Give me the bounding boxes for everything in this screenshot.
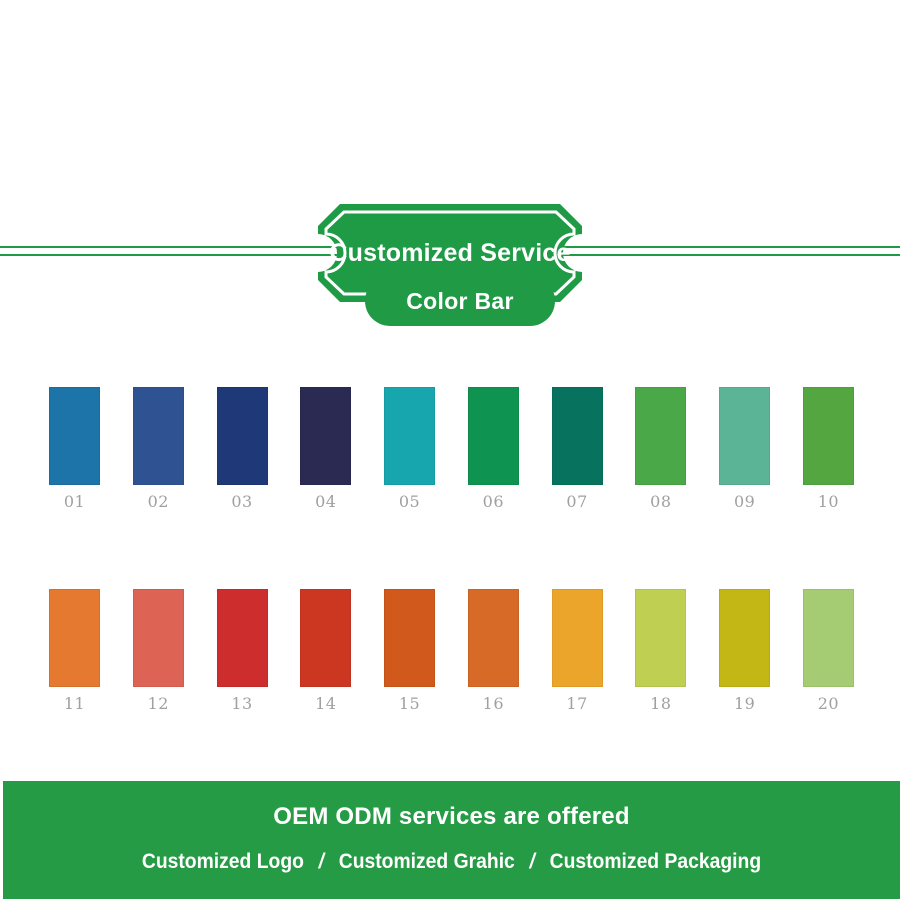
color-swatch-chip[interactable] — [300, 387, 351, 485]
color-swatch-label: 08 — [650, 494, 671, 510]
color-swatch-09[interactable]: 09 — [719, 387, 770, 510]
color-swatch-label: 06 — [483, 494, 504, 510]
color-swatch-chip[interactable] — [217, 589, 268, 687]
color-swatch-label: 10 — [818, 494, 839, 510]
color-swatch-label: 03 — [231, 494, 252, 510]
color-swatch-11[interactable]: 11 — [49, 589, 100, 712]
color-swatch-label: 14 — [315, 696, 336, 712]
color-swatch-label: 18 — [650, 696, 671, 712]
color-swatch-label: 01 — [64, 494, 85, 510]
color-swatch-15[interactable]: 15 — [384, 589, 435, 712]
header-banner: Customized Service — [0, 103, 900, 199]
color-swatch-chip[interactable] — [300, 589, 351, 687]
color-swatch-chip[interactable] — [49, 589, 100, 687]
color-swatch-label: 02 — [148, 494, 169, 510]
color-swatch-chip[interactable] — [49, 387, 100, 485]
color-swatch-12[interactable]: 12 — [133, 589, 184, 712]
color-swatch-01[interactable]: 01 — [49, 387, 100, 510]
color-swatch-16[interactable]: 16 — [468, 589, 519, 712]
footer-service-packaging: Customized Packaging — [550, 851, 761, 872]
color-swatch-chip[interactable] — [217, 387, 268, 485]
footer-banner: OEM ODM services are offered Customized … — [3, 781, 900, 899]
color-swatch-chip[interactable] — [719, 387, 770, 485]
page-title-text: Customized Service — [329, 239, 570, 268]
color-swatch-chip[interactable] — [635, 387, 686, 485]
color-swatch-row-1: 01020304050607080910 — [49, 387, 854, 510]
color-swatch-chip[interactable] — [384, 589, 435, 687]
color-bar-pill-label: Color Bar — [406, 288, 514, 315]
color-swatch-label: 12 — [148, 696, 169, 712]
footer-service-graphic: Customized Grahic — [339, 851, 515, 872]
color-swatch-20[interactable]: 20 — [803, 589, 854, 712]
color-swatch-08[interactable]: 08 — [635, 387, 686, 510]
color-swatch-chip[interactable] — [133, 589, 184, 687]
color-swatch-05[interactable]: 05 — [384, 387, 435, 510]
color-swatch-chip[interactable] — [133, 387, 184, 485]
color-swatch-label: 04 — [315, 494, 336, 510]
color-swatch-04[interactable]: 04 — [300, 387, 351, 510]
color-swatch-row-2: 11121314151617181920 — [49, 589, 854, 712]
color-swatch-label: 15 — [399, 696, 420, 712]
color-swatch-chip[interactable] — [635, 589, 686, 687]
footer-separator-2: / — [515, 851, 550, 872]
color-swatch-label: 09 — [734, 494, 755, 510]
color-swatch-02[interactable]: 02 — [133, 387, 184, 510]
color-swatch-17[interactable]: 17 — [552, 589, 603, 712]
color-swatch-chip[interactable] — [803, 589, 854, 687]
footer-services: Customized Logo / Customized Grahic / Cu… — [39, 851, 864, 872]
footer-headline: OEM ODM services are offered — [3, 805, 900, 829]
color-swatch-label: 16 — [483, 696, 504, 712]
color-bar-pill: Color Bar — [365, 276, 555, 326]
color-swatch-chip[interactable] — [384, 387, 435, 485]
color-swatch-label: 07 — [566, 494, 587, 510]
color-swatch-10[interactable]: 10 — [803, 387, 854, 510]
color-swatch-label: 17 — [566, 696, 587, 712]
color-swatch-label: 20 — [818, 696, 839, 712]
color-swatch-07[interactable]: 07 — [552, 387, 603, 510]
footer-separator-1: / — [304, 851, 339, 872]
color-swatch-chip[interactable] — [719, 589, 770, 687]
color-swatch-14[interactable]: 14 — [300, 589, 351, 712]
color-swatch-chip[interactable] — [803, 387, 854, 485]
footer-service-logo: Customized Logo — [142, 851, 304, 872]
color-swatch-chip[interactable] — [468, 387, 519, 485]
color-swatch-chip[interactable] — [552, 589, 603, 687]
color-swatch-13[interactable]: 13 — [217, 589, 268, 712]
color-swatch-label: 11 — [64, 696, 85, 712]
color-swatch-label: 05 — [399, 494, 420, 510]
color-swatch-03[interactable]: 03 — [217, 387, 268, 510]
color-swatch-06[interactable]: 06 — [468, 387, 519, 510]
color-swatch-18[interactable]: 18 — [635, 589, 686, 712]
color-swatch-label: 13 — [231, 696, 252, 712]
color-swatch-chip[interactable] — [468, 589, 519, 687]
color-swatch-19[interactable]: 19 — [719, 589, 770, 712]
color-swatch-chip[interactable] — [552, 387, 603, 485]
color-swatch-label: 19 — [734, 696, 755, 712]
